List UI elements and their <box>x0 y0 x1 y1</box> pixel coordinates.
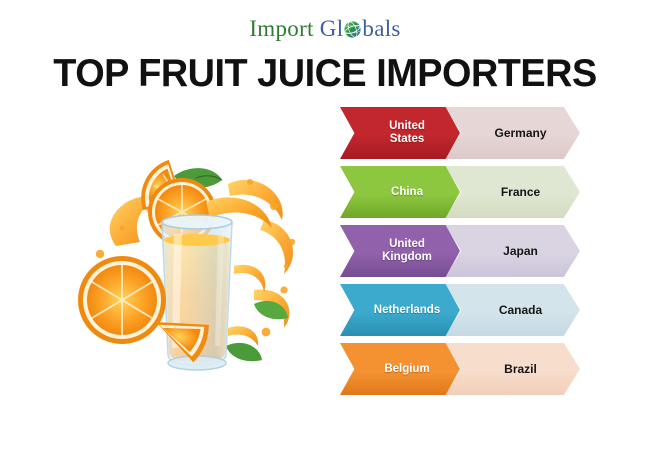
importer-row: Belgium Brazil <box>340 343 580 395</box>
infographic-canvas: Import Gl bals TOP FRUIT JUICE IMPORTERS <box>0 0 650 450</box>
chevron-left-belgium[interactable]: Belgium <box>340 343 460 395</box>
chevron-left-label: Belgium <box>370 363 429 376</box>
chevron-label-line1: United <box>389 238 425 250</box>
importer-row: UnitedStates Germany <box>340 107 580 159</box>
chevron-right-label: Japan <box>487 245 538 258</box>
importer-row: Netherlands Canada <box>340 284 580 336</box>
chevron-right-japan[interactable]: Japan <box>445 225 580 277</box>
importer-row: China France <box>340 166 580 218</box>
brand-logo: Import Gl bals <box>0 16 650 42</box>
chevron-right-france[interactable]: France <box>445 166 580 218</box>
chevron-left-label: China <box>377 186 423 199</box>
chevron-right-label: France <box>485 186 540 199</box>
page-title: TOP FRUIT JUICE IMPORTERS <box>10 52 641 96</box>
chevron-left-label: UnitedKingdom <box>368 238 432 264</box>
importer-row: UnitedKingdom Japan <box>340 225 580 277</box>
chevron-right-germany[interactable]: Germany <box>445 107 580 159</box>
chevron-right-brazil[interactable]: Brazil <box>445 343 580 395</box>
chevron-label-line2: Kingdom <box>382 251 432 263</box>
chevron-left-united-kingdom[interactable]: UnitedKingdom <box>340 225 460 277</box>
chevron-right-label: Germany <box>478 127 546 140</box>
chevron-right-label: Canada <box>483 304 542 317</box>
chevron-label-line1: United <box>389 120 425 132</box>
chevron-right-canada[interactable]: Canada <box>445 284 580 336</box>
globe-icon <box>343 19 362 38</box>
chevron-left-china[interactable]: China <box>340 166 460 218</box>
chevron-label-line2: States <box>390 133 425 145</box>
logo-text-bals: bals <box>362 16 400 41</box>
orange-juice-glass-image <box>78 150 308 375</box>
logo-text-gl: Gl <box>320 16 344 41</box>
chevron-right-label: Brazil <box>488 363 537 376</box>
chevron-left-label: UnitedStates <box>375 120 425 146</box>
importers-chevron-list: UnitedStates Germany China France United… <box>340 107 580 407</box>
logo-text-import: Import <box>249 16 313 41</box>
chevron-left-united-states[interactable]: UnitedStates <box>340 107 460 159</box>
chevron-left-netherlands[interactable]: Netherlands <box>340 284 460 336</box>
chevron-left-label: Netherlands <box>360 304 440 317</box>
